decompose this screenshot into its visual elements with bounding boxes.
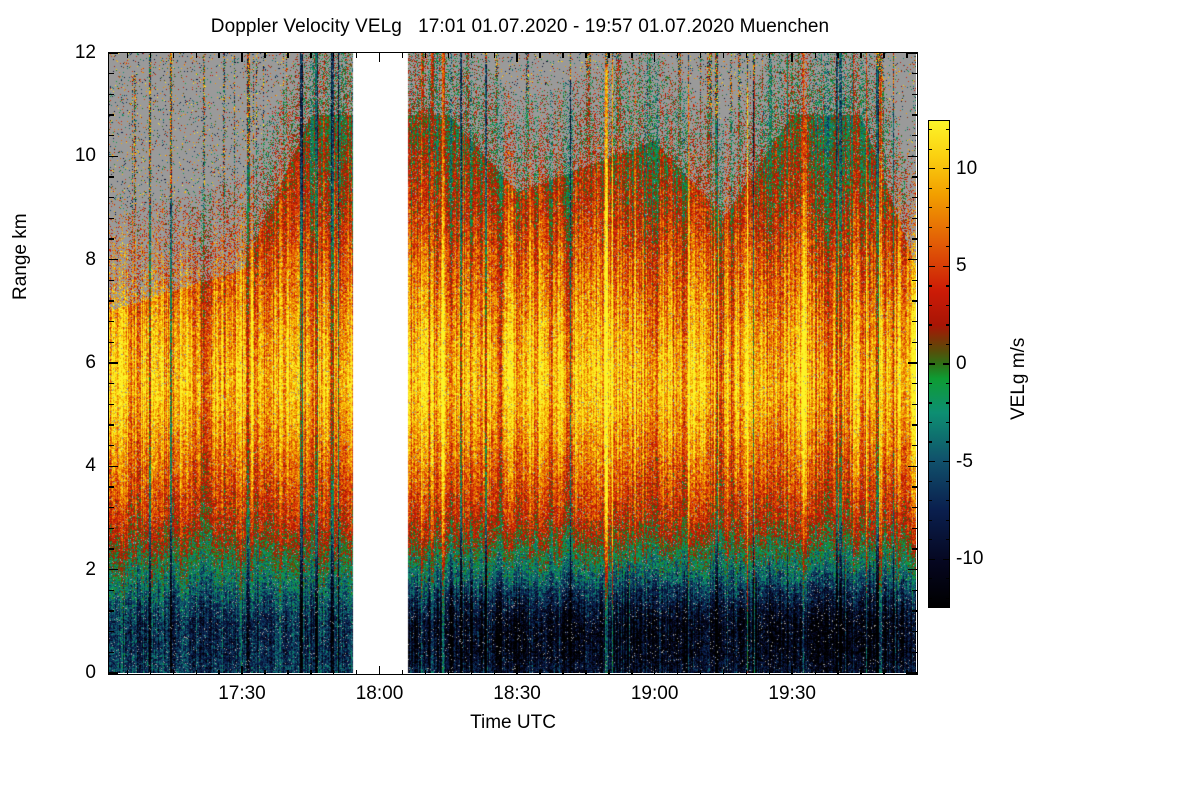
x-tick-minor — [723, 670, 724, 675]
x-tick-minor — [448, 53, 449, 58]
y-tick-minor — [109, 238, 114, 239]
x-tick-minor — [860, 53, 861, 58]
x-tick-minor — [837, 670, 838, 675]
x-tick-minor — [906, 670, 907, 675]
y-tick-minor — [109, 590, 114, 591]
y-tick-minor — [109, 135, 114, 136]
y-tick-label: 10 — [50, 146, 96, 165]
y-tick-major — [908, 362, 917, 363]
x-axis-title: Time UTC — [108, 712, 918, 734]
radar-heatmap-canvas — [109, 53, 916, 673]
x-tick-minor — [264, 53, 265, 58]
colorbar-minor-tick — [928, 207, 932, 208]
x-tick-major — [379, 666, 380, 675]
x-tick-minor — [218, 670, 219, 675]
colorbar-minor-tick — [928, 188, 932, 189]
doppler-velocity-figure: Doppler Velocity VELg 17:01 01.07.2020 -… — [0, 0, 1200, 800]
colorbar-minor-tick — [928, 500, 932, 501]
y-tick-label: 0 — [50, 663, 96, 682]
colorbar-minor-tick — [928, 383, 932, 384]
x-tick-minor — [585, 670, 586, 675]
y-tick-minor — [109, 652, 114, 653]
y-tick-minor — [109, 548, 114, 549]
y-tick-minor — [109, 404, 114, 405]
heatmap-plot-area — [108, 52, 918, 675]
x-tick-minor — [196, 670, 197, 675]
x-tick-minor — [150, 53, 151, 58]
colorbar-tick — [928, 168, 935, 169]
colorbar-tick — [928, 461, 935, 462]
x-tick-label: 17:30 — [197, 684, 287, 703]
x-tick-minor — [494, 53, 495, 58]
x-tick-minor — [356, 53, 357, 58]
x-tick-minor — [746, 670, 747, 675]
x-tick-minor — [310, 670, 311, 675]
colorbar-tick — [943, 461, 950, 462]
x-tick-minor — [769, 53, 770, 58]
x-tick-minor — [402, 670, 403, 675]
x-tick-minor — [127, 53, 128, 58]
y-tick-major — [109, 156, 118, 157]
colorbar-minor-tick — [928, 149, 932, 150]
y-axis-title: Range km — [10, 213, 32, 300]
colorbar-minor-tick — [928, 441, 932, 442]
x-tick-minor — [815, 53, 816, 58]
x-tick-label: 19:00 — [610, 684, 700, 703]
colorbar-minor-tick — [946, 539, 950, 540]
x-tick-minor — [631, 53, 632, 58]
x-tick-major — [241, 666, 242, 675]
x-tick-minor — [883, 53, 884, 58]
colorbar-minor-tick — [946, 578, 950, 579]
x-tick-minor — [310, 53, 311, 58]
colorbar-tick — [928, 559, 935, 560]
y-tick-major — [109, 466, 118, 467]
y-tick-minor — [109, 383, 114, 384]
y-tick-label: 8 — [50, 250, 96, 269]
y-tick-major — [908, 569, 917, 570]
colorbar-minor-tick — [946, 305, 950, 306]
colorbar-minor-tick — [928, 246, 932, 247]
colorbar-minor-tick — [928, 305, 932, 306]
x-tick-minor — [815, 670, 816, 675]
y-tick-minor — [109, 507, 114, 508]
x-tick-minor — [700, 670, 701, 675]
x-tick-minor — [127, 670, 128, 675]
x-tick-minor — [196, 53, 197, 58]
colorbar-minor-tick — [928, 539, 932, 540]
colorbar-tick — [943, 559, 950, 560]
y-tick-minor — [912, 73, 917, 74]
y-tick-minor — [109, 342, 114, 343]
y-tick-major — [109, 259, 118, 260]
y-tick-minor — [109, 610, 114, 611]
y-tick-minor — [912, 218, 917, 219]
y-tick-major — [109, 362, 118, 363]
colorbar-minor-tick — [946, 441, 950, 442]
x-tick-minor — [860, 670, 861, 675]
y-tick-minor — [109, 280, 114, 281]
colorbar-minor-tick — [928, 481, 932, 482]
x-tick-major — [791, 666, 792, 675]
x-tick-major — [654, 666, 655, 675]
y-tick-minor — [109, 94, 114, 95]
y-tick-minor — [109, 73, 114, 74]
x-tick-major — [791, 53, 792, 62]
colorbar-minor-tick — [946, 188, 950, 189]
x-tick-minor — [723, 53, 724, 58]
colorbar-minor-tick — [928, 129, 932, 130]
colorbar-tick-label: 5 — [956, 256, 967, 275]
y-tick-label: 12 — [50, 43, 96, 62]
y-tick-minor — [109, 114, 114, 115]
x-tick-minor — [448, 670, 449, 675]
x-tick-minor — [150, 670, 151, 675]
colorbar-minor-tick — [946, 324, 950, 325]
colorbar-minor-tick — [946, 598, 950, 599]
x-tick-label: 18:00 — [335, 684, 425, 703]
y-tick-minor — [109, 445, 114, 446]
x-tick-minor — [677, 53, 678, 58]
x-tick-minor — [402, 53, 403, 58]
y-tick-minor — [109, 486, 114, 487]
colorbar-tick — [943, 266, 950, 267]
colorbar-minor-tick — [946, 402, 950, 403]
x-tick-minor — [906, 53, 907, 58]
y-tick-minor — [912, 383, 917, 384]
x-tick-minor — [173, 53, 174, 58]
colorbar-minor-tick — [928, 520, 932, 521]
x-tick-minor — [333, 53, 334, 58]
x-tick-minor — [883, 670, 884, 675]
colorbar-minor-tick — [946, 246, 950, 247]
x-tick-major — [379, 53, 380, 62]
x-tick-minor — [539, 670, 540, 675]
x-tick-minor — [494, 670, 495, 675]
y-tick-minor — [912, 631, 917, 632]
colorbar-minor-tick — [946, 383, 950, 384]
colorbar-minor-tick — [946, 520, 950, 521]
y-tick-minor — [912, 445, 917, 446]
x-tick-major — [241, 53, 242, 62]
colorbar-tick — [928, 363, 935, 364]
y-tick-minor — [912, 507, 917, 508]
colorbar-minor-tick — [946, 422, 950, 423]
x-tick-minor — [333, 670, 334, 675]
x-tick-minor — [700, 53, 701, 58]
y-tick-minor — [912, 135, 917, 136]
x-tick-minor — [471, 670, 472, 675]
y-tick-major — [908, 156, 917, 157]
y-tick-major — [109, 569, 118, 570]
colorbar-minor-tick — [946, 149, 950, 150]
y-tick-minor — [912, 610, 917, 611]
y-tick-minor — [109, 197, 114, 198]
colorbar-minor-tick — [946, 344, 950, 345]
colorbar-minor-tick — [946, 227, 950, 228]
y-tick-minor — [912, 197, 917, 198]
colorbar-tick-label: -5 — [956, 452, 973, 471]
x-tick-minor — [218, 53, 219, 58]
colorbar-minor-tick — [928, 344, 932, 345]
y-tick-minor — [912, 342, 917, 343]
y-tick-minor — [912, 652, 917, 653]
colorbar-minor-tick — [928, 598, 932, 599]
x-tick-minor — [562, 670, 563, 675]
x-tick-minor — [264, 670, 265, 675]
x-tick-minor — [539, 53, 540, 58]
y-tick-label: 6 — [50, 353, 96, 372]
x-tick-minor — [425, 53, 426, 58]
y-tick-minor — [109, 631, 114, 632]
y-tick-minor — [109, 321, 114, 322]
y-tick-major — [109, 52, 118, 53]
x-tick-minor — [608, 53, 609, 58]
x-tick-minor — [425, 670, 426, 675]
y-tick-minor — [109, 218, 114, 219]
x-tick-minor — [562, 53, 563, 58]
y-tick-minor — [912, 321, 917, 322]
x-tick-major — [516, 53, 517, 62]
y-tick-minor — [109, 528, 114, 529]
y-tick-minor — [912, 404, 917, 405]
x-tick-minor — [287, 53, 288, 58]
y-tick-label: 2 — [50, 560, 96, 579]
y-tick-minor — [912, 280, 917, 281]
colorbar-minor-tick — [946, 481, 950, 482]
colorbar-minor-tick — [928, 227, 932, 228]
y-tick-minor — [109, 176, 114, 177]
y-tick-minor — [912, 424, 917, 425]
x-tick-minor — [471, 53, 472, 58]
x-tick-minor — [585, 53, 586, 58]
y-tick-minor — [912, 548, 917, 549]
x-tick-minor — [631, 670, 632, 675]
colorbar-minor-tick — [928, 324, 932, 325]
y-tick-minor — [912, 176, 917, 177]
x-tick-minor — [677, 670, 678, 675]
x-tick-minor — [608, 670, 609, 675]
y-tick-minor — [912, 528, 917, 529]
x-tick-minor — [746, 53, 747, 58]
colorbar-minor-tick — [928, 285, 932, 286]
colorbar-minor-tick — [946, 285, 950, 286]
x-tick-major — [516, 666, 517, 675]
x-tick-minor — [287, 670, 288, 675]
colorbar-tick — [928, 266, 935, 267]
y-tick-minor — [912, 486, 917, 487]
y-tick-minor — [912, 590, 917, 591]
y-tick-minor — [109, 300, 114, 301]
colorbar-minor-tick — [928, 422, 932, 423]
y-tick-major — [908, 52, 917, 53]
x-tick-minor — [173, 670, 174, 675]
y-tick-minor — [912, 94, 917, 95]
y-tick-label: 4 — [50, 456, 96, 475]
y-tick-minor — [912, 114, 917, 115]
colorbar-minor-tick — [928, 578, 932, 579]
colorbar-tick-label: -10 — [956, 549, 983, 568]
x-tick-minor — [356, 670, 357, 675]
x-tick-major — [654, 53, 655, 62]
colorbar-tick — [943, 168, 950, 169]
x-tick-minor — [769, 670, 770, 675]
y-tick-minor — [912, 300, 917, 301]
colorbar-minor-tick — [946, 207, 950, 208]
y-tick-major — [908, 259, 917, 260]
x-tick-label: 18:30 — [472, 684, 562, 703]
colorbar-minor-tick — [946, 500, 950, 501]
colorbar-tick — [943, 363, 950, 364]
x-tick-minor — [837, 53, 838, 58]
x-tick-label: 19:30 — [747, 684, 837, 703]
colorbar-minor-tick — [946, 129, 950, 130]
colorbar-title: VELg m/s — [1008, 338, 1030, 420]
y-tick-major — [109, 672, 118, 673]
y-tick-major — [908, 466, 917, 467]
colorbar-tick-label: 10 — [956, 159, 977, 178]
y-tick-minor — [109, 424, 114, 425]
y-tick-major — [908, 672, 917, 673]
colorbar-tick-label: 0 — [956, 354, 967, 373]
colorbar-minor-tick — [928, 402, 932, 403]
y-tick-minor — [912, 238, 917, 239]
page-title: Doppler Velocity VELg 17:01 01.07.2020 -… — [0, 16, 1040, 38]
